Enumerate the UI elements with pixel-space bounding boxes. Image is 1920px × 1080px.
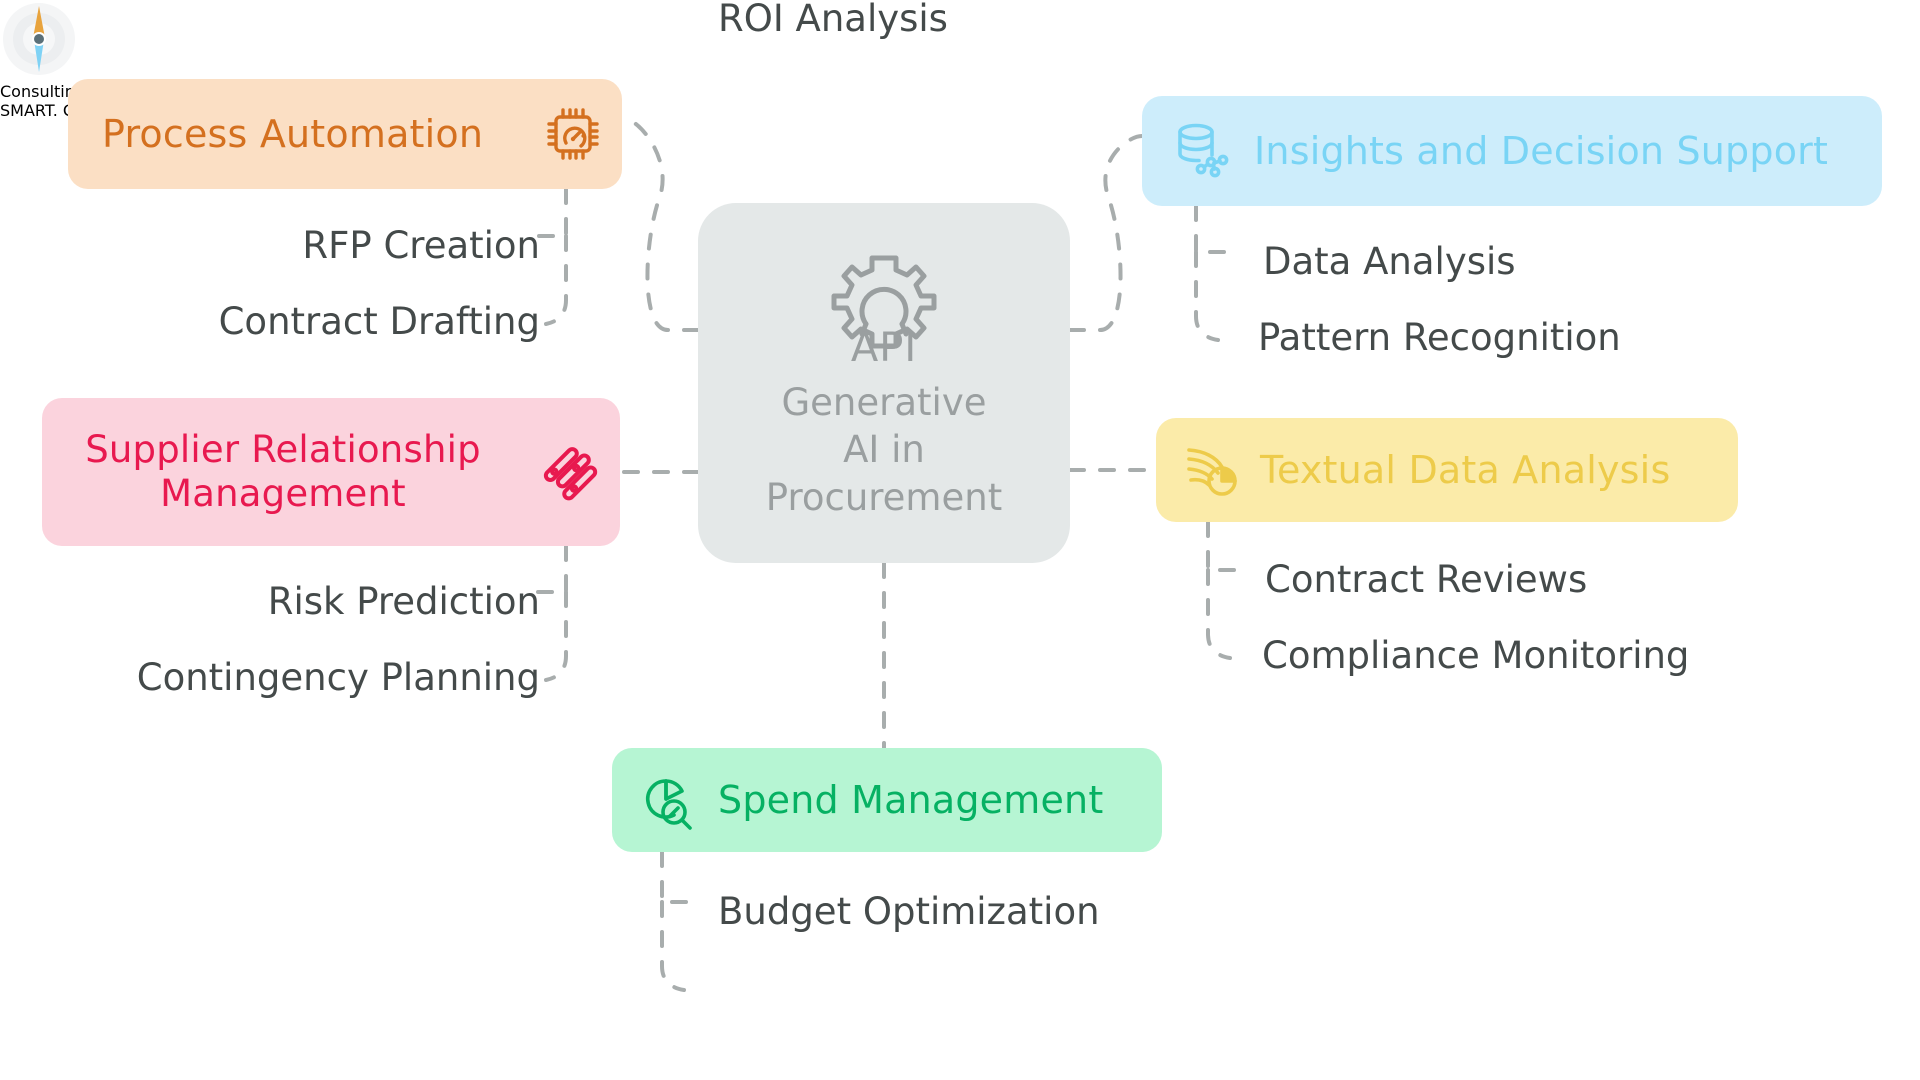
connector-process-automation-child-2 (546, 236, 566, 324)
connector-spend-children (662, 852, 698, 902)
connector-process-automation-children (536, 189, 566, 236)
leaf-budget-optimization: Budget Optimization (718, 893, 1100, 930)
leaf-compliance-monitoring: Compliance Monitoring (1262, 637, 1689, 674)
center-node[interactable]: API Generative AI in Procurement (698, 203, 1070, 563)
center-api-label: API (814, 325, 954, 371)
sliders-diagonal-icon (542, 441, 604, 503)
branch-process-automation[interactable]: Process Automation (68, 79, 622, 189)
leaf-roi-analysis: ROI Analysis (718, 0, 948, 37)
connector-center-to-insights (1070, 136, 1142, 330)
connector-textual-child-2 (1208, 570, 1230, 658)
compass-needle-icon (0, 0, 1920, 82)
mindmap-canvas: API Generative AI in Procurement Process… (0, 0, 1920, 1080)
center-title: Generative AI in Procurement (766, 379, 1002, 521)
leaf-contract-drafting: Contract Drafting (0, 303, 540, 340)
branch-label-textual-data-analysis: Textual Data Analysis (1260, 448, 1670, 493)
leaf-data-analysis: Data Analysis (1263, 243, 1516, 280)
connector-spend-child-2 (662, 902, 684, 990)
connector-supplier-relationship-children (536, 546, 566, 592)
leaf-pattern-recognition: Pattern Recognition (1258, 319, 1621, 356)
connector-center-to-process-automation (622, 118, 698, 330)
connector-supplier-relationship-child-2 (546, 592, 566, 680)
branch-insights-decision-support[interactable]: Insights and Decision Support (1142, 96, 1882, 206)
leaf-rfp-creation: RFP Creation (0, 227, 540, 264)
leaf-risk-prediction: Risk Prediction (0, 583, 540, 620)
connector-insights-children (1196, 206, 1234, 252)
leaf-contingency-planning: Contingency Planning (0, 659, 540, 696)
api-gear-icon: API (814, 243, 954, 365)
cpu-chip-gauge-icon (542, 103, 604, 165)
branch-supplier-relationship[interactable]: Supplier Relationship Management (42, 398, 620, 546)
database-network-icon (1170, 119, 1234, 183)
branch-spend-management[interactable]: Spend Management (612, 748, 1162, 852)
branch-label-spend-management: Spend Management (718, 778, 1103, 823)
branch-label-process-automation: Process Automation (102, 112, 483, 157)
branch-label-insights-decision-support: Insights and Decision Support (1254, 129, 1828, 174)
rays-pie-chart-icon (1182, 439, 1244, 501)
connector-insights-child-2 (1196, 252, 1218, 340)
branch-textual-data-analysis[interactable]: Textual Data Analysis (1156, 418, 1738, 522)
leaf-contract-reviews: Contract Reviews (1265, 561, 1587, 598)
pie-chart-magnifier-icon (636, 769, 698, 831)
connector-textual-children (1208, 522, 1244, 570)
branch-label-supplier-relationship: Supplier Relationship Management (68, 428, 498, 515)
